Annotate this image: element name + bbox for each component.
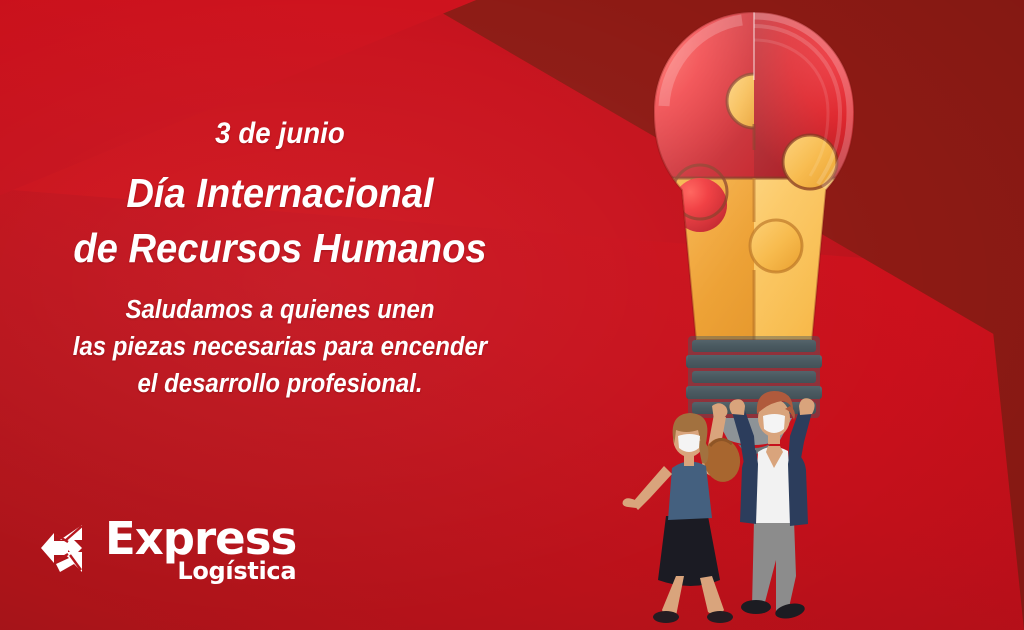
- puzzle-lightbulb-illustration: [604, 0, 904, 630]
- brand-name: Express: [105, 516, 296, 561]
- date-kicker: 3 de junio: [22, 118, 537, 150]
- headline-line-2: de Recursos Humanos: [20, 221, 541, 276]
- subcopy-line-3: el desarrollo profesional.: [17, 366, 543, 403]
- message-subcopy: Saludamos a quienes unen las piezas nece…: [17, 292, 543, 402]
- man-figure: [729, 391, 814, 621]
- headline-line-1: Día Internacional: [20, 166, 541, 221]
- page-title: Día Internacional de Recursos Humanos: [20, 166, 541, 277]
- subcopy-line-1: Saludamos a quienes unen: [17, 292, 543, 329]
- express-arrows-cube-icon: [38, 520, 94, 576]
- woman-figure: [623, 403, 743, 623]
- message-block: 3 de junio Día Internacional de Recursos…: [0, 118, 560, 402]
- brand-wordmark: Express Logística: [105, 516, 296, 583]
- brand-logo: Express Logística: [38, 516, 296, 583]
- subcopy-line-2: las piezas necesarias para encender: [17, 329, 543, 366]
- poster-canvas: 3 de junio Día Internacional de Recursos…: [0, 0, 1024, 630]
